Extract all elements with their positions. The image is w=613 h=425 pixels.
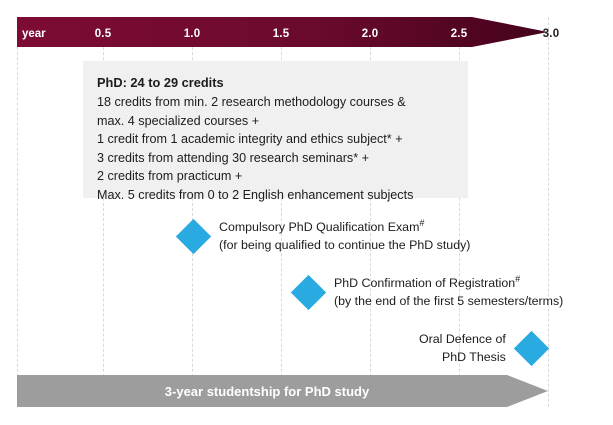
milestone-label-line2: (for being qualified to continue the PhD… [219, 237, 470, 255]
credits-line-4: 3 credits from attending 30 research sem… [97, 149, 454, 168]
milestone-label-line2: (by the end of the first 5 semesters/ter… [334, 293, 563, 311]
phd-timeline-diagram: year 0.5 1.0 1.5 2.0 2.5 3.0 PhD: 24 to … [0, 0, 613, 425]
milestone-oral-defence[interactable]: Oral Defence of PhD Thesis [419, 331, 544, 366]
axis-tick-3-0: 3.0 [543, 28, 560, 40]
milestone-label-line1: Oral Defence of [419, 331, 506, 349]
diamond-marker-icon [176, 219, 211, 254]
axis-tick-1-0: 1.0 [184, 28, 201, 40]
milestone-label-line1: Compulsory PhD Qualification Exam# [219, 219, 470, 237]
credits-line-6: Max. 5 credits from 0 to 2 English enhan… [97, 186, 454, 205]
milestone-qualification-exam[interactable]: Compulsory PhD Qualification Exam# (for … [181, 219, 470, 254]
diamond-marker-icon [514, 331, 549, 366]
credits-line-5: 2 credits from practicum + [97, 167, 454, 186]
credits-line-2: max. 4 specialized courses + [97, 112, 454, 131]
milestone-label-line2: PhD Thesis [419, 349, 506, 367]
milestone-label-line1-text: PhD Confirmation of Registration [334, 276, 515, 290]
axis-tick-2-5: 2.5 [451, 28, 468, 40]
studentship-label: 3-year studentship for PhD study [17, 375, 517, 407]
milestone-label: PhD Confirmation of Registration# (by th… [334, 275, 563, 310]
milestone-label-line1: PhD Confirmation of Registration# [334, 275, 563, 293]
milestone-label-line1-superscript: # [419, 218, 424, 228]
credits-line-1: 18 credits from min. 2 research methodol… [97, 93, 454, 112]
milestone-label-line1-text: Compulsory PhD Qualification Exam [219, 220, 419, 234]
gridline-0 [17, 17, 19, 407]
milestone-label-line1-superscript: # [515, 274, 520, 284]
axis-tick-1-5: 1.5 [273, 28, 290, 40]
credits-box-title: PhD: 24 to 29 credits [97, 73, 454, 92]
credits-requirements-box: PhD: 24 to 29 credits 18 credits from mi… [83, 61, 468, 198]
milestone-label: Oral Defence of PhD Thesis [419, 331, 506, 366]
milestone-label: Compulsory PhD Qualification Exam# (for … [219, 219, 470, 254]
axis-tick-0-5: 0.5 [95, 28, 112, 40]
axis-tick-2-0: 2.0 [362, 28, 379, 40]
diamond-marker-icon [291, 275, 326, 310]
milestone-confirmation-of-registration[interactable]: PhD Confirmation of Registration# (by th… [296, 275, 563, 310]
credits-line-3: 1 credit from 1 academic integrity and e… [97, 130, 454, 149]
axis-unit-label: year [22, 28, 46, 40]
